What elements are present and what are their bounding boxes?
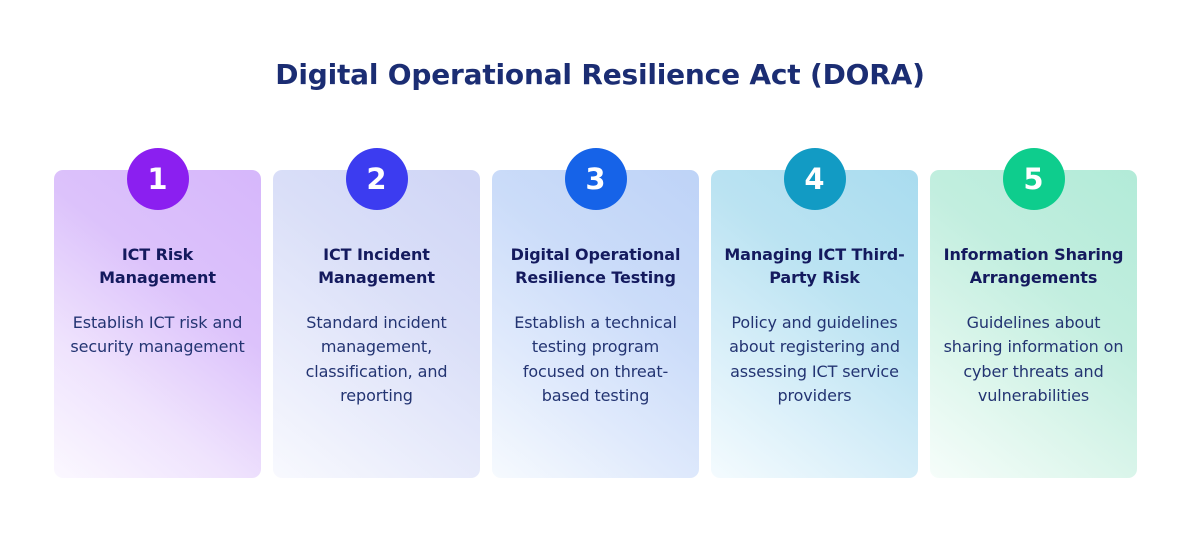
card-content-2: ICT Incident Management Standard inciden… (285, 170, 468, 478)
step-number-label-3: 3 (585, 165, 605, 194)
card-body-5: Guidelines about sharing information on … (942, 311, 1125, 408)
step-number-label-2: 2 (366, 165, 386, 194)
pillar-card-1: 1 ICT Risk Management Establish ICT risk… (54, 170, 261, 478)
card-content-5: Information Sharing Arrangements Guideli… (942, 170, 1125, 478)
step-number-label-1: 1 (147, 165, 167, 194)
pillar-card-5: 5 Information Sharing Arrangements Guide… (930, 170, 1137, 478)
card-heading-3: Digital Operational Resilience Testing (504, 243, 687, 289)
card-body-2: Standard incident management, classifica… (285, 311, 468, 408)
card-heading-2: ICT Incident Management (285, 243, 468, 289)
card-content-3: Digital Operational Resilience Testing E… (504, 170, 687, 478)
step-number-badge-5: 5 (1003, 148, 1065, 210)
step-number-badge-3: 3 (565, 148, 627, 210)
card-heading-4: Managing ICT Third-Party Risk (723, 243, 906, 289)
step-number-label-5: 5 (1023, 165, 1043, 194)
card-heading-1: ICT Risk Management (66, 243, 249, 289)
infographic-page: Digital Operational Resilience Act (DORA… (0, 0, 1200, 558)
step-number-badge-2: 2 (346, 148, 408, 210)
card-content-1: ICT Risk Management Establish ICT risk a… (66, 170, 249, 478)
card-body-1: Establish ICT risk and security manageme… (66, 311, 249, 360)
card-heading-5: Information Sharing Arrangements (942, 243, 1125, 289)
card-body-4: Policy and guidelines about registering … (723, 311, 906, 408)
step-number-label-4: 4 (804, 165, 824, 194)
pillar-card-3: 3 Digital Operational Resilience Testing… (492, 170, 699, 478)
page-title: Digital Operational Resilience Act (DORA… (0, 58, 1200, 91)
step-number-badge-1: 1 (127, 148, 189, 210)
step-number-badge-4: 4 (784, 148, 846, 210)
card-content-4: Managing ICT Third-Party Risk Policy and… (723, 170, 906, 478)
pillar-card-2: 2 ICT Incident Management Standard incid… (273, 170, 480, 478)
card-body-3: Establish a technical testing program fo… (504, 311, 687, 408)
pillar-card-list: 1 ICT Risk Management Establish ICT risk… (54, 170, 1138, 478)
pillar-card-4: 4 Managing ICT Third-Party Risk Policy a… (711, 170, 918, 478)
